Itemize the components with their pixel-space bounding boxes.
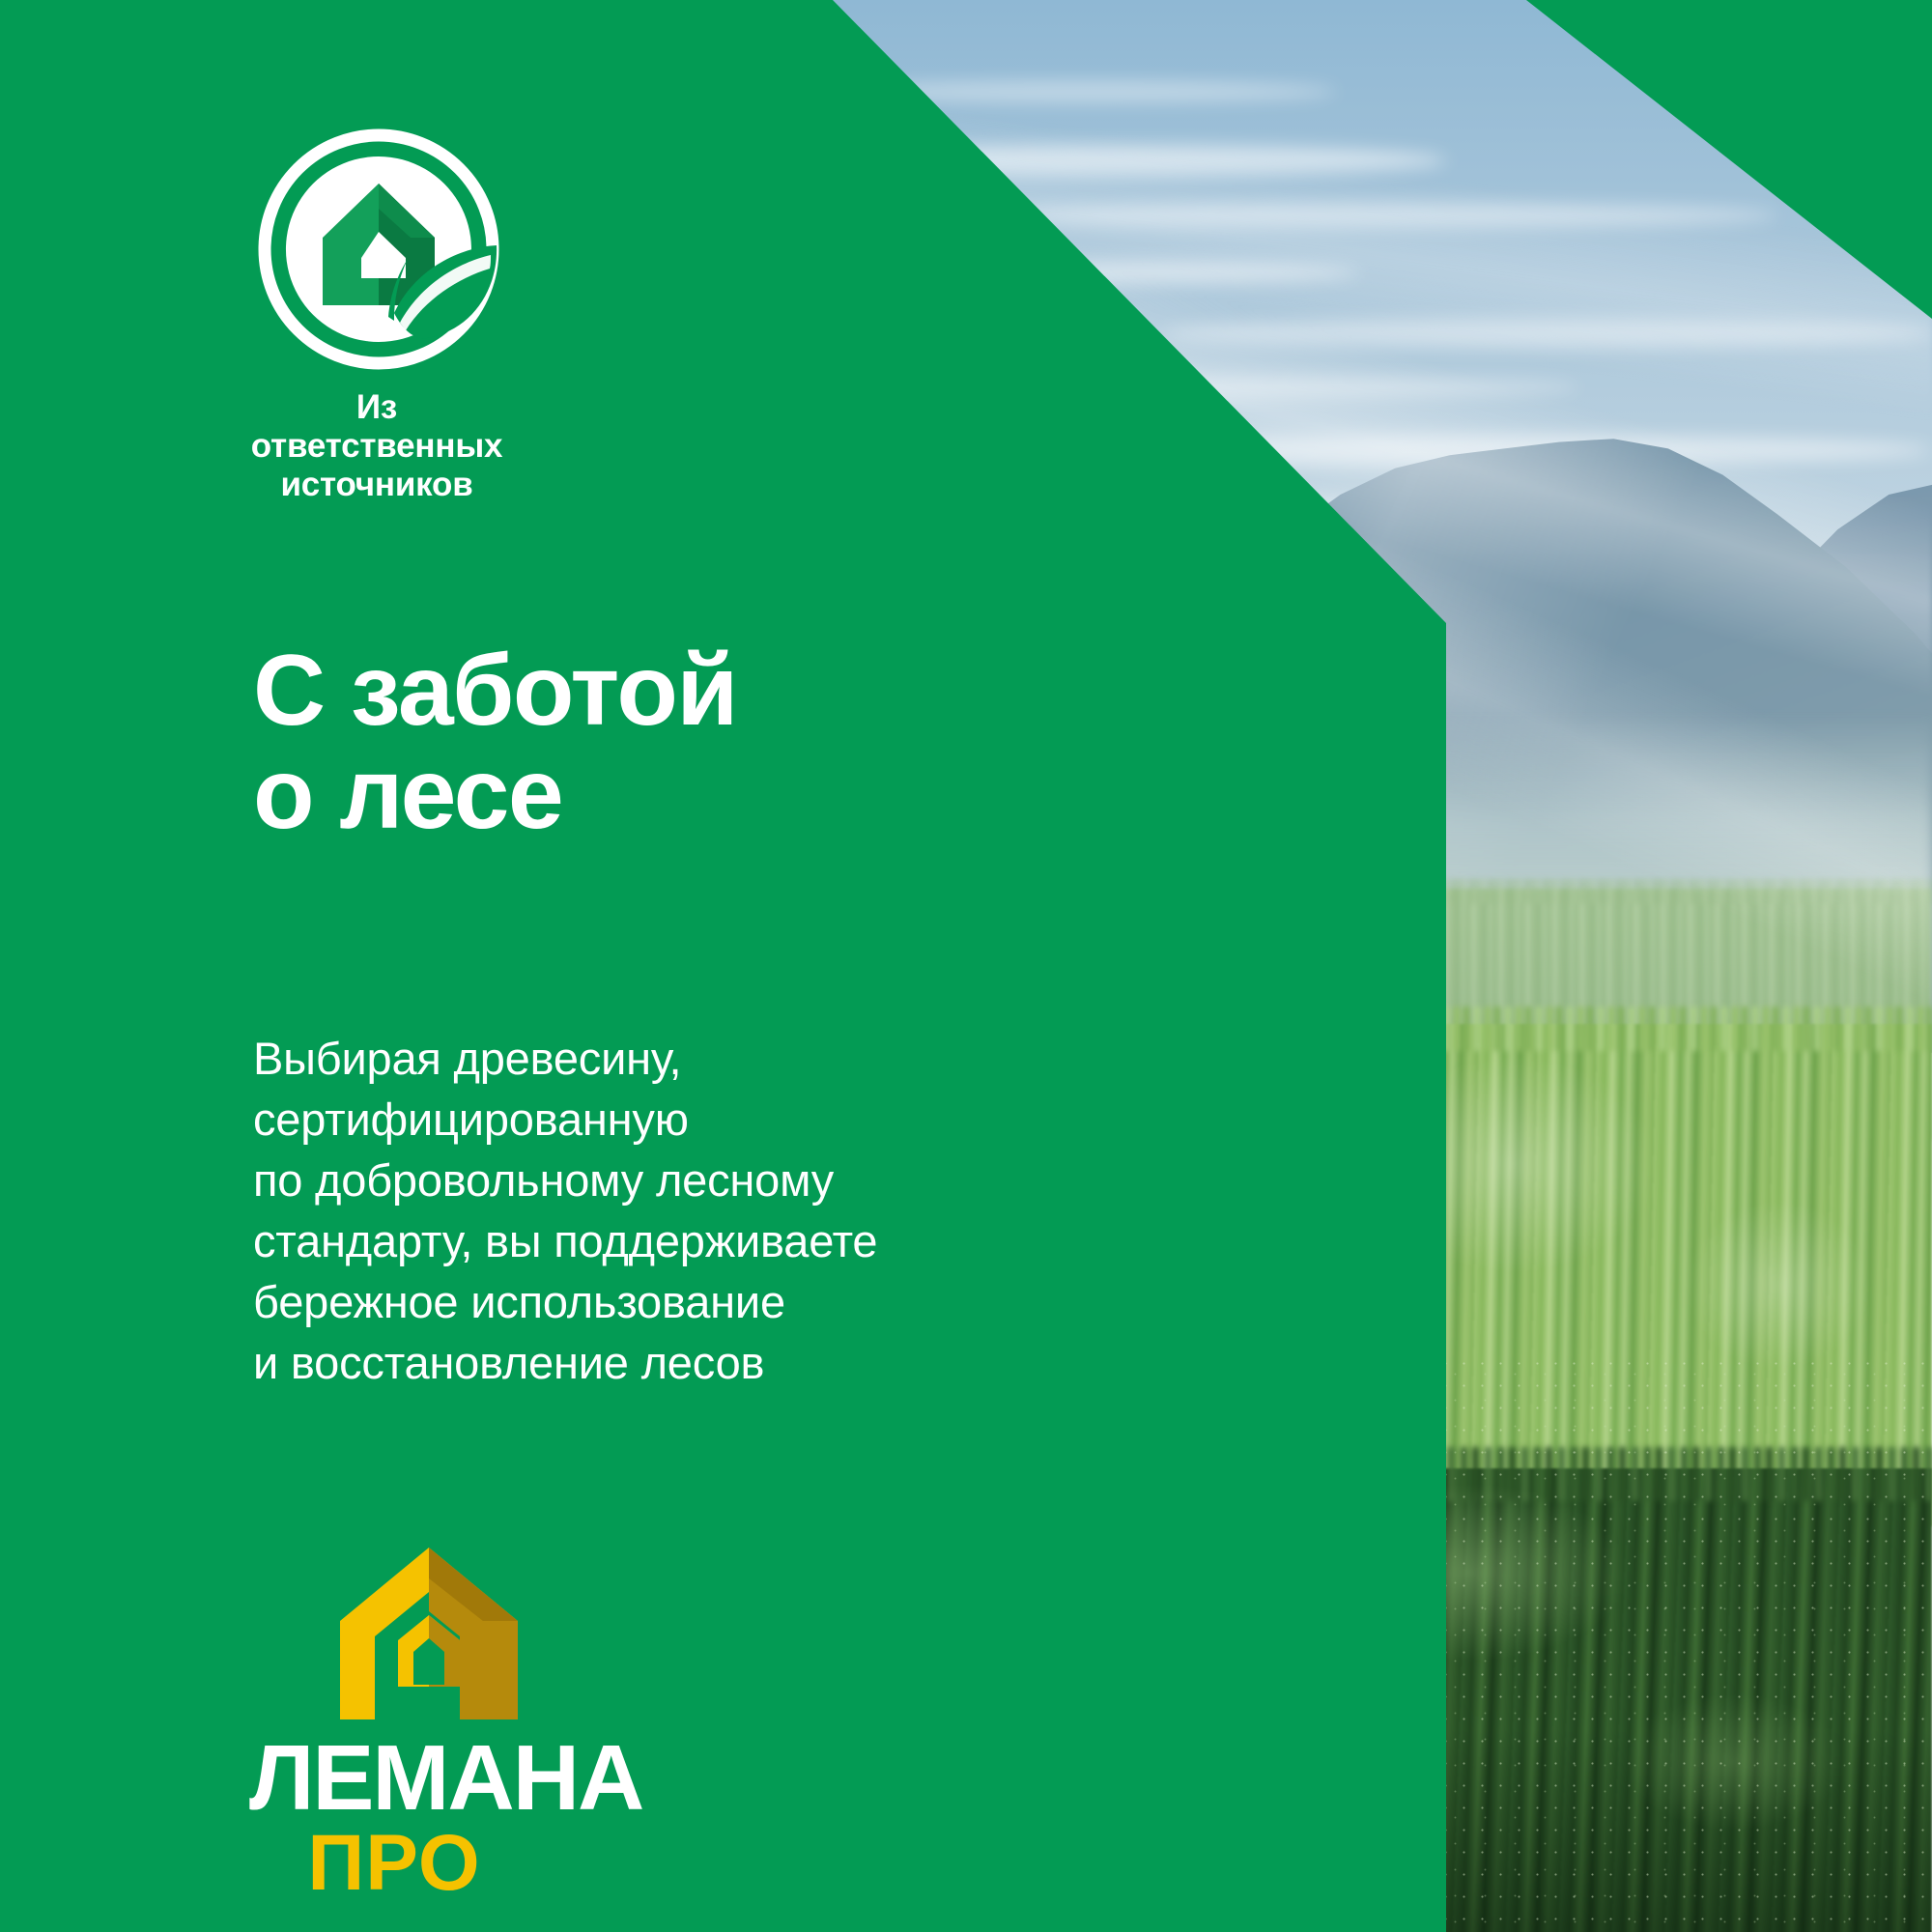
brand-logo: ЛЕМАНА ПРО	[249, 1544, 558, 1901]
certification-badge: Из ответственных источников	[253, 124, 504, 442]
leroy-house-icon	[334, 1544, 524, 1723]
brand-sub: ПРО	[249, 1826, 539, 1901]
page-title: С заботой о лесе	[253, 639, 737, 846]
badge-caption: Из ответственных источников	[236, 388, 518, 504]
body-text: Выбирая древесину, сертифицированную по …	[253, 1029, 877, 1394]
cloud-band	[1161, 319, 1932, 348]
responsible-sources-seal-icon	[253, 124, 504, 375]
brand-name: ЛЕМАНА	[249, 1737, 558, 1820]
cloud-band	[985, 203, 1778, 228]
poster-root: Из ответственных источников С заботой о …	[0, 0, 1932, 1932]
